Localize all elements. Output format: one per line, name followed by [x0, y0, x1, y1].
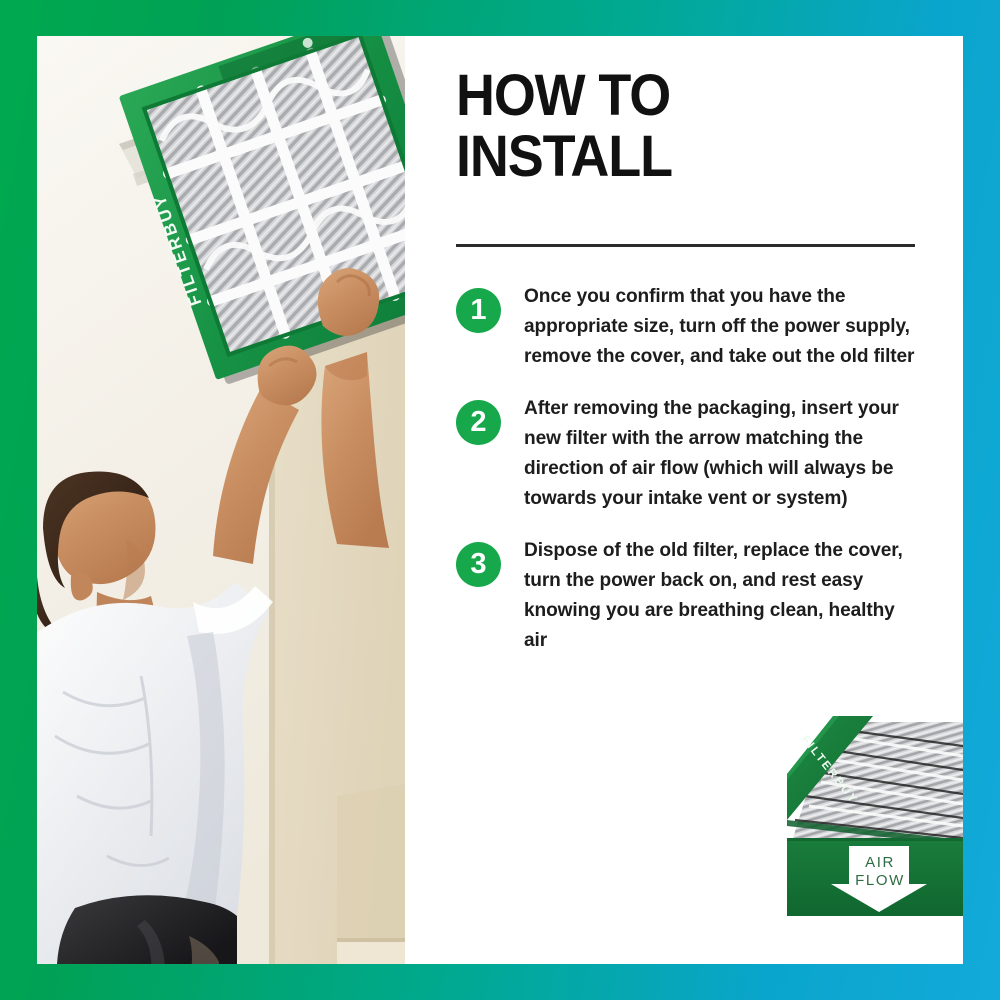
- filter-illustration: FILTERBUY: [787, 716, 963, 928]
- steps-list: 1 Once you confirm that you have the app…: [456, 281, 926, 677]
- step-text: Once you confirm that you have the appro…: [524, 281, 920, 371]
- step-number-badge: 2: [456, 400, 501, 445]
- list-item: 2 After removing the packaging, insert y…: [456, 393, 926, 513]
- title-divider: [456, 244, 915, 247]
- page-title: HOW TO INSTALL: [456, 65, 893, 187]
- step-text: After removing the packaging, insert you…: [524, 393, 920, 513]
- photo-illustration: FILTERBUY: [37, 36, 405, 964]
- filter-product-graphic: FILTERBUY: [787, 716, 963, 928]
- step-number-badge: 1: [456, 288, 501, 333]
- list-item: 3 Dispose of the old filter, replace the…: [456, 535, 926, 655]
- installation-photo: FILTERBUY: [37, 36, 405, 964]
- list-item: 1 Once you confirm that you have the app…: [456, 281, 926, 371]
- step-number-badge: 3: [456, 542, 501, 587]
- infographic-canvas: FILTERBUY: [0, 0, 1000, 1000]
- step-text: Dispose of the old filter, replace the c…: [524, 535, 920, 655]
